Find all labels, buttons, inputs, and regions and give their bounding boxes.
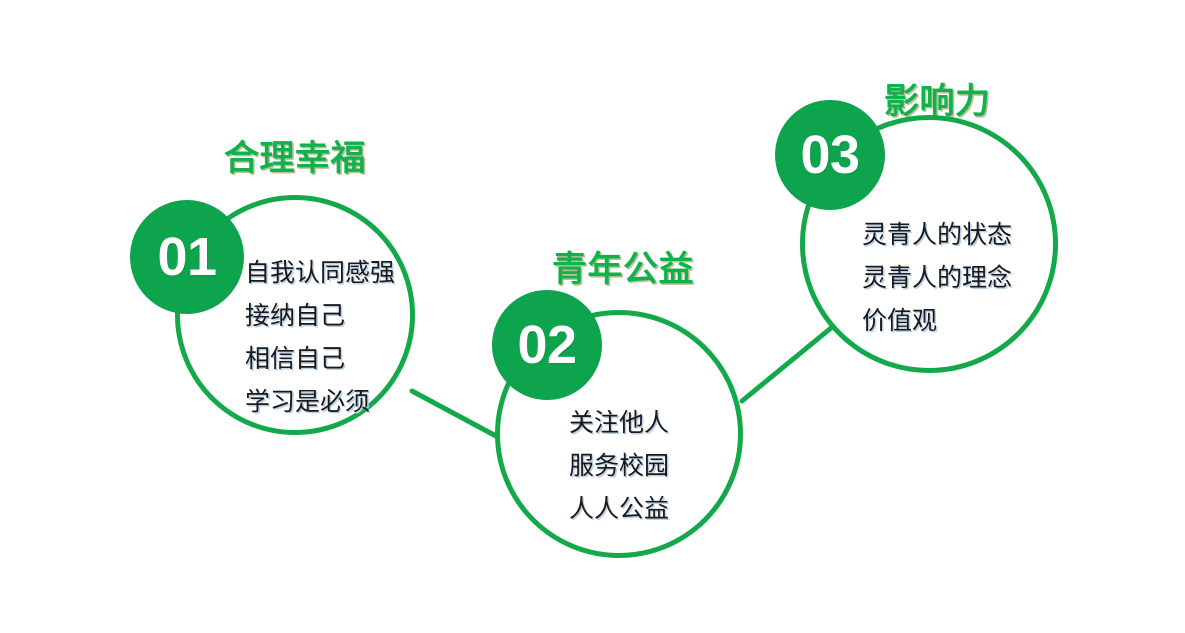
list-item: 学习是必须: [245, 381, 395, 424]
connector-1-to-2: [412, 391, 496, 436]
list-item: 人人公益: [527, 488, 711, 531]
node-03-number-badge[interactable]: 03: [775, 100, 885, 210]
list-item: 关注他人: [527, 402, 711, 445]
node-02-item-list: 关注他人 服务校园 人人公益: [527, 402, 711, 531]
connector-2-to-3: [742, 328, 831, 401]
node-01-number-badge[interactable]: 01: [130, 200, 244, 314]
node-01-title: 合理幸福: [224, 130, 366, 181]
list-item: 价值观: [862, 300, 1012, 343]
node-02-number-badge[interactable]: 02: [492, 290, 602, 400]
node-01-number: 01: [157, 230, 216, 284]
node-02-number: 02: [517, 318, 576, 372]
node-02-title: 青年公益: [552, 241, 694, 292]
node-01-item-list: 自我认同感强 接纳自己 相信自己 学习是必须: [245, 252, 395, 424]
node-03-item-list: 灵青人的状态 灵青人的理念 价值观: [862, 214, 1012, 343]
list-item: 自我认同感强: [245, 252, 395, 295]
list-item: 服务校园: [527, 445, 711, 488]
list-item: 灵青人的状态: [862, 214, 1012, 257]
list-item: 灵青人的理念: [862, 257, 1012, 300]
list-item: 相信自己: [245, 338, 395, 381]
node-03-number: 03: [800, 128, 859, 182]
diagram-canvas: 合理幸福 01 自我认同感强 接纳自己 相信自己 学习是必须 青年公益 02 关…: [0, 0, 1185, 633]
node-03-title: 影响力: [884, 73, 991, 124]
list-item: 接纳自己: [245, 295, 395, 338]
